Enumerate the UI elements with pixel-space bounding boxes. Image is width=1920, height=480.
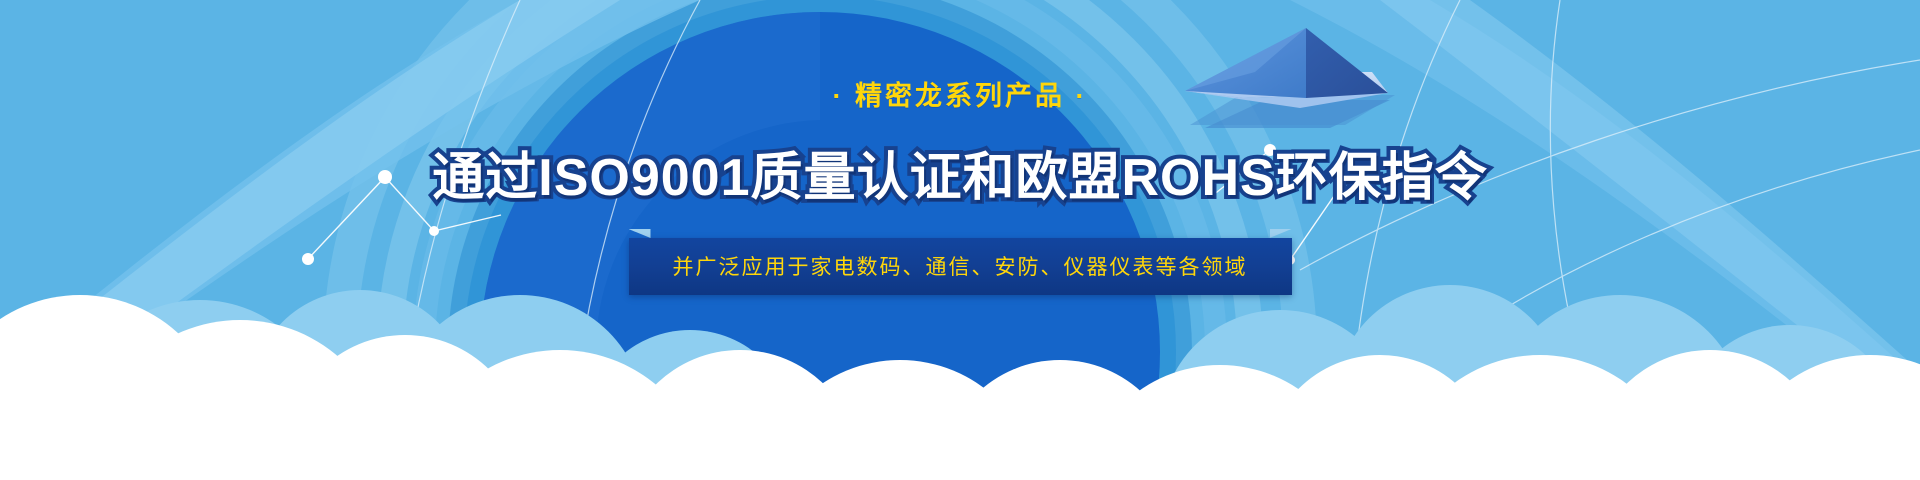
ribbon-fold-left xyxy=(629,229,651,238)
banner-ribbon-text: 并广泛应用于家电数码、通信、安防、仪器仪表等各领域 xyxy=(629,238,1292,295)
banner-subtitle: · 精密龙系列产品 · xyxy=(833,74,1088,113)
banner-headline: 通过ISO9001质量认证和欧盟ROHS环保指令 xyxy=(432,135,1488,210)
banner-ribbon-wrap: 并广泛应用于家电数码、通信、安防、仪器仪表等各领域 xyxy=(629,238,1292,295)
banner-content: · 精密龙系列产品 · 通过ISO9001质量认证和欧盟ROHS环保指令 并广泛… xyxy=(0,0,1920,480)
promo-banner: · 精密龙系列产品 · 通过ISO9001质量认证和欧盟ROHS环保指令 并广泛… xyxy=(0,0,1920,480)
ribbon-fold-right xyxy=(1270,229,1292,238)
